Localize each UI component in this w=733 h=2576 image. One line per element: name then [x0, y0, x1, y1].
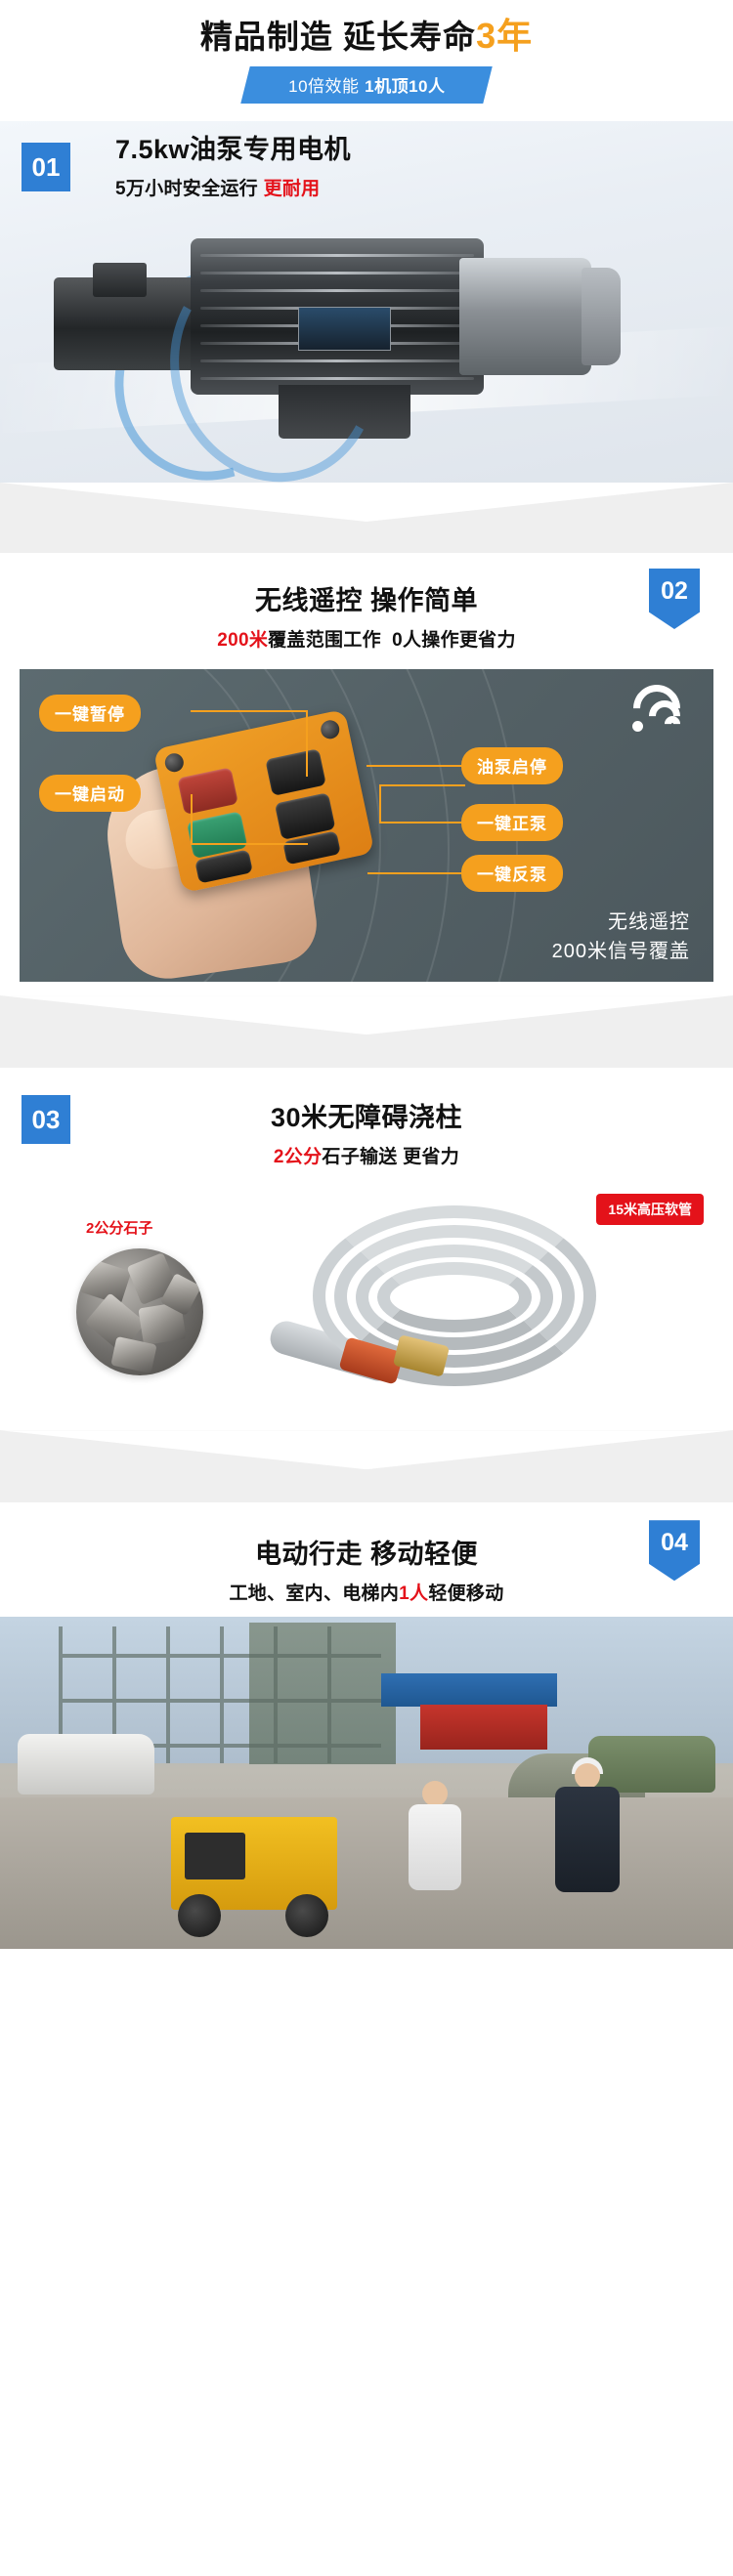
worker-head [575, 1763, 600, 1789]
hose-length-tag: 15米高压软管 [596, 1194, 704, 1225]
spacer [0, 1502, 733, 1516]
chevron-divider-1 [0, 483, 733, 539]
spacer [0, 104, 733, 121]
section-badge-02: 02 [649, 569, 700, 629]
callout-leader [191, 794, 193, 845]
callout-reverse-pump: 一键反泵 [461, 855, 563, 892]
page-title: 精品制造 延长寿命3年 [0, 14, 733, 58]
chevron-divider-3 [0, 1430, 733, 1487]
callout-leader [306, 710, 308, 777]
remote-control-image: 一键暂停 一键启动 油泵启停 一键正泵 一键反泵 无线遥控 200米信号覆盖 [20, 669, 713, 982]
section-01-sub-plain: 5万小时安全运行 [115, 179, 258, 199]
callout-leader [191, 843, 308, 845]
callout-start: 一键启动 [39, 775, 141, 812]
section-04-header: 04 电动行走 移动轻便 工地、室内、电梯内1人轻便移动 [0, 1516, 733, 1617]
remote-key-pump-toggle[interactable] [265, 748, 326, 796]
spacer [0, 1068, 733, 1079]
section-04-title: 电动行走 移动轻便 [0, 1538, 733, 1572]
worker-head [422, 1781, 448, 1806]
section-badge-01: 01 [22, 143, 70, 191]
section-04-subtitle: 工地、室内、电梯内1人轻便移动 [0, 1579, 733, 1605]
callout-leader [191, 710, 308, 712]
page-header: 精品制造 延长寿命3年 10倍效能 1机顶10人 [0, 0, 733, 104]
construction-site-photo [0, 1617, 733, 1949]
spacer [0, 1052, 733, 1068]
spacer [0, 539, 733, 553]
section-04: 04 电动行走 移动轻便 工地、室内、电梯内1人轻便移动 [0, 1516, 733, 1949]
remote-bolt [319, 719, 341, 741]
hero-banner-right: 1机顶10人 [365, 72, 445, 97]
motor-shaft-housing [459, 258, 591, 375]
section-01-header: 01 7.5kw油泵专用电机 5万小时安全运行 更耐用 [0, 121, 733, 229]
page-title-main: 精品制造 延长寿命 [200, 19, 476, 55]
section-04-sub-accent: 1人 [399, 1584, 428, 1604]
worker-torso [555, 1787, 620, 1892]
remote-caption-line2: 200米信号覆盖 [552, 937, 690, 966]
section-04-sub-plain: 工地、室内、电梯内 [229, 1584, 399, 1604]
remote-caption-line1: 无线遥控 [552, 908, 690, 937]
section-01-band: 01 7.5kw油泵专用电机 5万小时安全运行 更耐用 [0, 121, 733, 483]
gravel-photo [76, 1248, 203, 1375]
callout-leader [366, 765, 464, 767]
chevron-divider-2 [0, 995, 733, 1052]
page-footer [0, 1949, 733, 1968]
site-banner-blue [381, 1673, 557, 1707]
page-title-accent: 3年 [476, 16, 533, 56]
callout-leader [379, 822, 465, 823]
machine-wheel [285, 1894, 328, 1937]
section-01-sub-accent: 更耐用 [264, 179, 321, 199]
hose-and-stone-image: 15米高压软管 2公分石子 [20, 1188, 713, 1413]
white-van [18, 1734, 154, 1795]
spacer [0, 553, 733, 563]
section-02-sub-extra: 0人操作更省力 [392, 630, 516, 651]
section-03-sub-plain: 石子输送 更省力 [322, 1147, 459, 1167]
worker-center [401, 1781, 469, 1927]
motor-end-cap [582, 268, 621, 365]
spacer [0, 1413, 733, 1430]
section-03-sub-accent: 2公分 [274, 1147, 322, 1167]
spacer [0, 982, 733, 995]
pump-port [93, 263, 147, 297]
worker-torso [409, 1804, 461, 1890]
section-03: 03 30米无障碍浇柱 2公分石子输送 更省力 15米高压软管 2公分石子 [0, 1079, 733, 1413]
section-04-sub-plain2: 轻便移动 [428, 1584, 503, 1604]
section-03-subtitle: 2公分石子输送 更省力 [0, 1142, 733, 1168]
callout-pause: 一键暂停 [39, 695, 141, 732]
remote-caption: 无线遥控 200米信号覆盖 [552, 908, 690, 966]
hero-banner: 10倍效能 1机顶10人 [240, 66, 493, 104]
section-01-subtitle: 5万小时安全运行 更耐用 [115, 174, 351, 200]
section-01-text: 7.5kw油泵专用电机 5万小时安全运行 更耐用 [115, 133, 351, 200]
callout-leader [379, 784, 381, 823]
callout-leader [379, 784, 465, 786]
hero-banner-left: 10倍效能 [288, 72, 359, 97]
section-03-header: 03 30米无障碍浇柱 2公分石子输送 更省力 [0, 1079, 733, 1180]
section-02-header: 02 无线遥控 操作简单 200米覆盖范围工作 0人操作更省力 [0, 563, 733, 663]
section-02-title: 无线遥控 操作简单 [0, 584, 733, 618]
section-01-title: 7.5kw油泵专用电机 [115, 133, 351, 167]
section-badge-03: 03 [22, 1095, 70, 1144]
callout-forward-pump: 一键正泵 [461, 804, 563, 841]
remote-bolt [163, 752, 186, 775]
spacer [0, 1487, 733, 1502]
callout-leader [367, 872, 465, 874]
section-02-sub-plain: 覆盖范围工作 [268, 630, 381, 651]
site-banner-red [420, 1705, 547, 1750]
stone-size-label: 2公分石子 [86, 1217, 152, 1238]
machine-wheel [178, 1894, 221, 1937]
callout-pump-toggle: 油泵启停 [461, 747, 563, 784]
section-03-title: 30米无障碍浇柱 [0, 1101, 733, 1135]
hero-banner-wrap: 10倍效能 1机顶10人 [0, 66, 733, 104]
worker-right [545, 1763, 629, 1939]
section-02-subtitle: 200米覆盖范围工作 0人操作更省力 [0, 625, 733, 652]
section-02-sub-accent: 200米 [217, 630, 268, 651]
remote-key-stop[interactable] [177, 767, 238, 815]
wifi-signal-icon [620, 683, 680, 734]
section-01: 01 7.5kw油泵专用电机 5万小时安全运行 更耐用 [0, 121, 733, 483]
section-02: 02 无线遥控 操作简单 200米覆盖范围工作 0人操作更省力 [0, 563, 733, 982]
